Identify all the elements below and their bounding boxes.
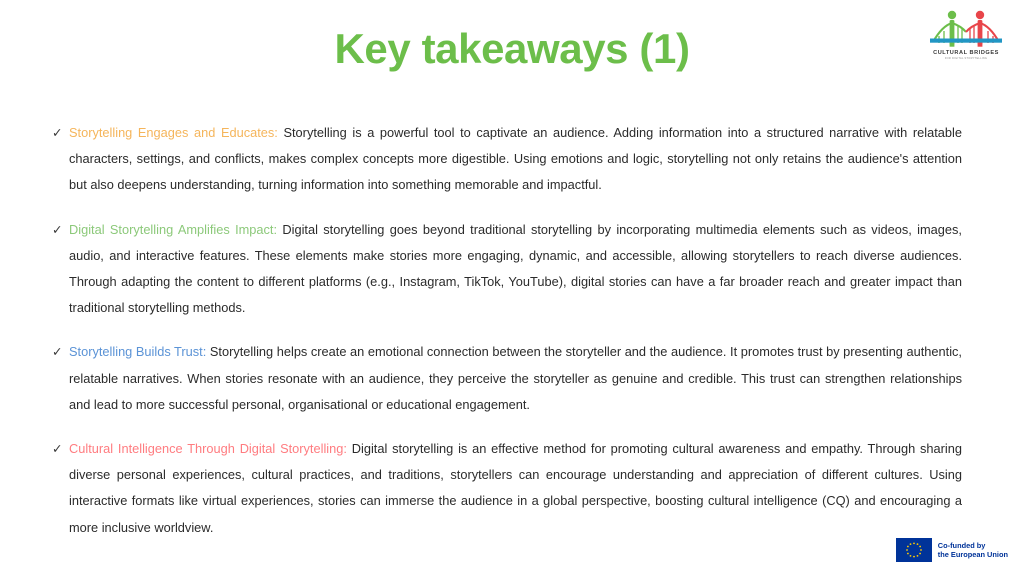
eu-funding-line1: Co-funded by [938, 541, 1008, 550]
slide-canvas: Key takeaways (1) ✓ Storytelling Engages… [0, 0, 1024, 576]
page-title: Key takeaways (1) [0, 26, 1024, 72]
list-item-heading: Storytelling Engages and Educates: [69, 125, 278, 140]
list-item-heading: Cultural Intelligence Through Digital St… [69, 441, 347, 456]
eu-funding-text: Co-funded by the European Union [938, 541, 1008, 560]
bridge-icon [928, 9, 1004, 49]
check-icon: ✓ [52, 436, 62, 462]
check-icon: ✓ [52, 217, 62, 243]
eu-flag-icon [896, 538, 932, 562]
list-item-heading: Digital Storytelling Amplifies Impact: [69, 222, 277, 237]
brand-name: CULTURAL BRIDGES [924, 50, 1008, 56]
eu-funding-badge: Co-funded by the European Union [896, 538, 1008, 562]
list-item: ✓ Cultural Intelligence Through Digital … [52, 436, 962, 541]
eu-funding-line2: the European Union [938, 550, 1008, 559]
check-icon: ✓ [52, 120, 62, 146]
brand-tagline: FOR DIGITAL STORYTELLING [924, 57, 1008, 60]
check-icon: ✓ [52, 339, 62, 365]
list-item-heading: Storytelling Builds Trust: [69, 344, 206, 359]
list-item: ✓ Digital Storytelling Amplifies Impact:… [52, 217, 962, 322]
list-item: ✓ Storytelling Engages and Educates: Sto… [52, 120, 962, 199]
cultural-bridges-logo: CULTURAL BRIDGES FOR DIGITAL STORYTELLIN… [924, 9, 1008, 73]
list-item: ✓ Storytelling Builds Trust: Storytellin… [52, 339, 962, 418]
takeaways-list: ✓ Storytelling Engages and Educates: Sto… [52, 120, 962, 541]
